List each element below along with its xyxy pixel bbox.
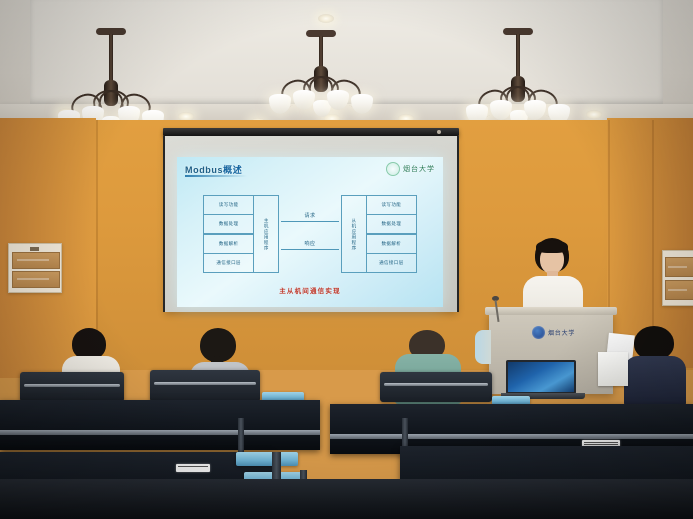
diagram-cell: 通信接口层	[366, 253, 417, 273]
diagram-connectors: 请求 响应	[279, 195, 341, 273]
slide-title-cn: 概述	[223, 165, 242, 175]
chair-bar	[384, 383, 488, 386]
chair-bar	[24, 384, 120, 387]
podium-emblem-text: 烟台大学	[548, 328, 575, 337]
chandelier-icon	[265, 30, 377, 130]
university-mark-icon	[386, 162, 400, 176]
screen-knob-icon	[437, 130, 441, 134]
student-hair	[634, 326, 674, 360]
downlight-icon	[318, 14, 334, 23]
slide-university-logo: 烟台大学	[386, 162, 435, 176]
presenter-fringe	[536, 240, 568, 253]
slide-title-rule	[185, 175, 247, 177]
diagram-link-label: 请求	[304, 212, 315, 219]
diagram-link-label: 响应	[304, 240, 315, 247]
student-right-dark	[624, 326, 686, 404]
diagram-cell: 数据解析	[366, 234, 417, 254]
desk-tablet	[236, 452, 298, 466]
chair-back	[380, 372, 492, 402]
wall-plaque-left	[8, 243, 62, 293]
diagram-cell: 数据解析	[203, 234, 254, 254]
paper-stack	[598, 352, 628, 386]
diagram-cell: 读写功能	[203, 195, 254, 215]
wall-seam	[652, 120, 654, 360]
diagram-cell: 读写功能	[366, 195, 417, 215]
chair-bar	[154, 382, 256, 385]
classroom-photo: Modbus概述 烟台大学 读写功能 数据处理 数据解析 通信接口层 主机应用程…	[0, 0, 693, 519]
podium-side-panel	[475, 330, 491, 364]
slide-logo-text: 烟台大学	[403, 164, 435, 174]
desk-rail	[0, 430, 320, 435]
projected-slide: Modbus概述 烟台大学 读写功能 数据处理 数据解析 通信接口层 主机应用程…	[177, 157, 443, 307]
university-emblem-icon	[532, 326, 545, 339]
desk-row-middle	[0, 400, 320, 450]
diagram-left-side-label: 主机应用程序	[253, 195, 279, 273]
desk-rail	[330, 434, 693, 439]
laptop-lid	[506, 360, 576, 394]
diagram-left-cells: 读写功能 数据处理 数据解析 通信接口层	[203, 195, 254, 273]
diagram-cell: 通信接口层	[203, 253, 254, 273]
podium-emblem: 烟台大学	[532, 326, 575, 339]
wall-plaque-right	[662, 250, 693, 306]
slide-caption: 主从机间通信实现	[177, 285, 443, 295]
diagram-cell: 数据处理	[366, 214, 417, 234]
laptop-screen	[508, 362, 574, 392]
slide-diagram: 读写功能 数据处理 数据解析 通信接口层 主机应用程序 请求 响应 从机	[203, 195, 417, 273]
chair-back	[20, 372, 124, 402]
diagram-right-side-label: 从机应用程序	[341, 195, 367, 273]
student-torso	[624, 356, 686, 406]
slide-title-en: Modbus	[185, 165, 223, 175]
podium-top	[485, 307, 617, 315]
downlight-icon	[586, 110, 602, 119]
chair-back	[150, 370, 260, 402]
floor	[0, 479, 693, 519]
diagram-right-cells: 读写功能 数据处理 数据解析 通信接口层	[366, 195, 417, 273]
laptop[interactable]	[506, 360, 582, 400]
projector-screen-housing	[163, 128, 459, 136]
diagram-right-group: 从机应用程序 读写功能 数据处理 数据解析 通信接口层	[341, 195, 417, 273]
diagram-left-group: 读写功能 数据处理 数据解析 通信接口层 主机应用程序	[203, 195, 279, 273]
diagram-cell: 数据处理	[203, 214, 254, 234]
desk-label	[176, 464, 210, 472]
